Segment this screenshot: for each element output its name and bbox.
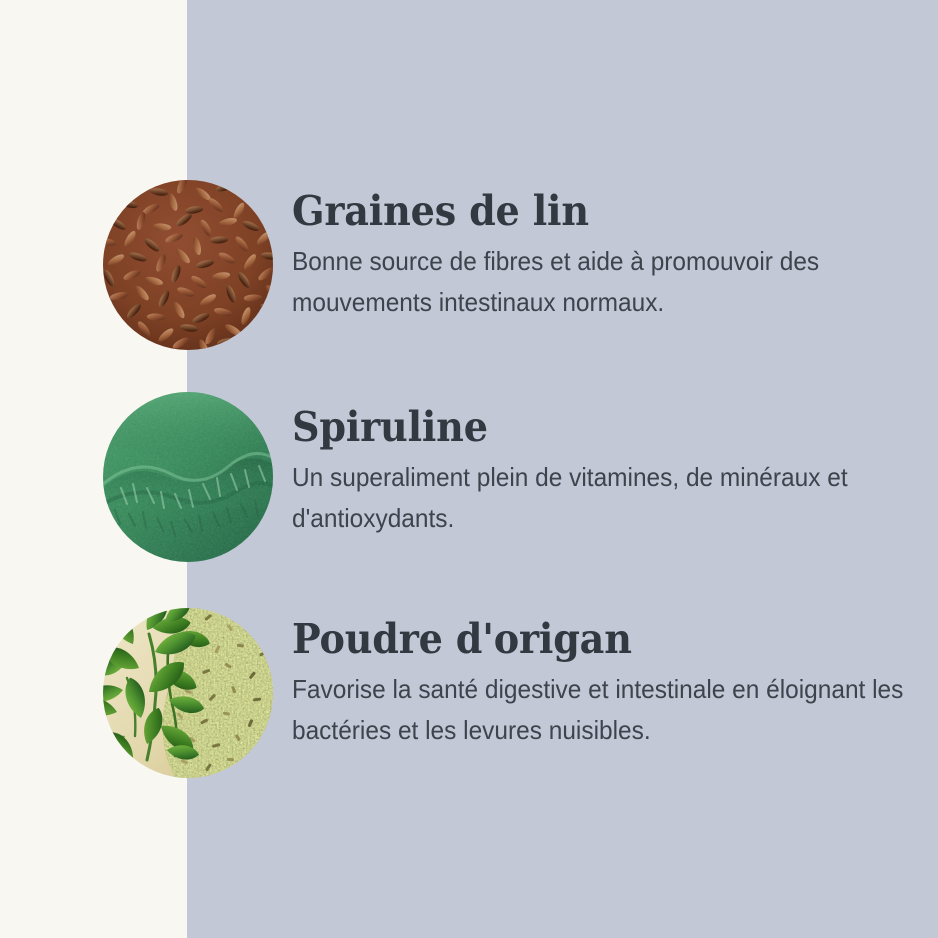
spirulina-powder-photo xyxy=(103,392,273,562)
list-item-text: Poudre d'origan Favorise la santé digest… xyxy=(292,608,917,751)
list-item-text: Spiruline Un superaliment plein de vitam… xyxy=(292,392,917,539)
infographic-canvas: Graines de lin Bonne source de fibres et… xyxy=(0,0,938,938)
list-item-description: Favorise la santé digestive et intestina… xyxy=(292,664,922,751)
benefit-list: Graines de lin Bonne source de fibres et… xyxy=(0,0,938,938)
flax-seeds-photo xyxy=(103,180,273,350)
oregano-powder-photo xyxy=(103,608,273,778)
list-item-title: Graines de lin xyxy=(292,180,873,236)
list-item-text: Graines de lin Bonne source de fibres et… xyxy=(292,180,917,323)
list-item-title: Poudre d'origan xyxy=(292,608,873,664)
list-item-description: Un superaliment plein de vitamines, de m… xyxy=(292,452,922,539)
list-item-title: Spiruline xyxy=(292,392,873,452)
list-item-description: Bonne source de fibres et aide à promouv… xyxy=(292,236,922,323)
